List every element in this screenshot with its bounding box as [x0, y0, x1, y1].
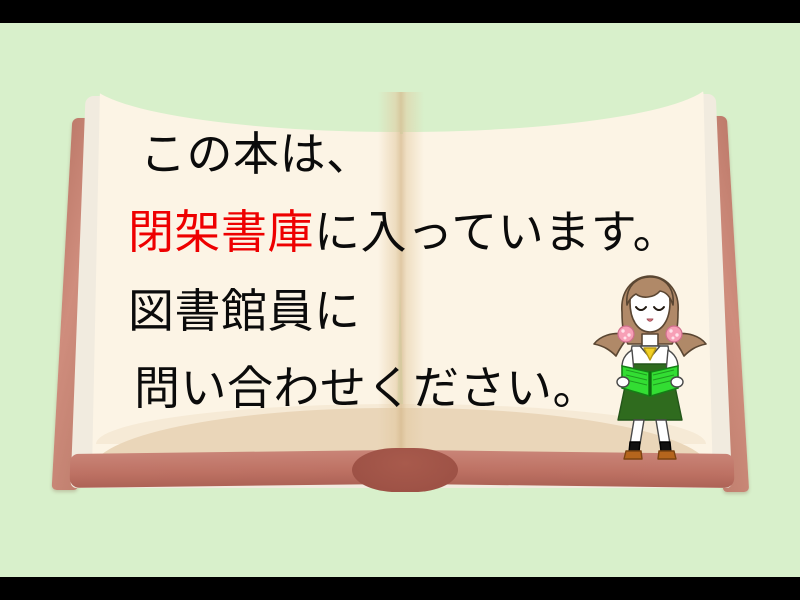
letterbox-top	[0, 0, 800, 23]
girl-reading-icon	[592, 272, 708, 460]
hair-tie-right	[666, 326, 682, 342]
book-spine	[352, 448, 458, 492]
letterbox-bottom	[0, 577, 800, 600]
book-board-left	[70, 450, 387, 488]
hair-tie-left	[618, 326, 634, 342]
slide-canvas: この本は、 閉架書庫に入っています。 図書館員に 問い合わせください。	[0, 0, 800, 600]
